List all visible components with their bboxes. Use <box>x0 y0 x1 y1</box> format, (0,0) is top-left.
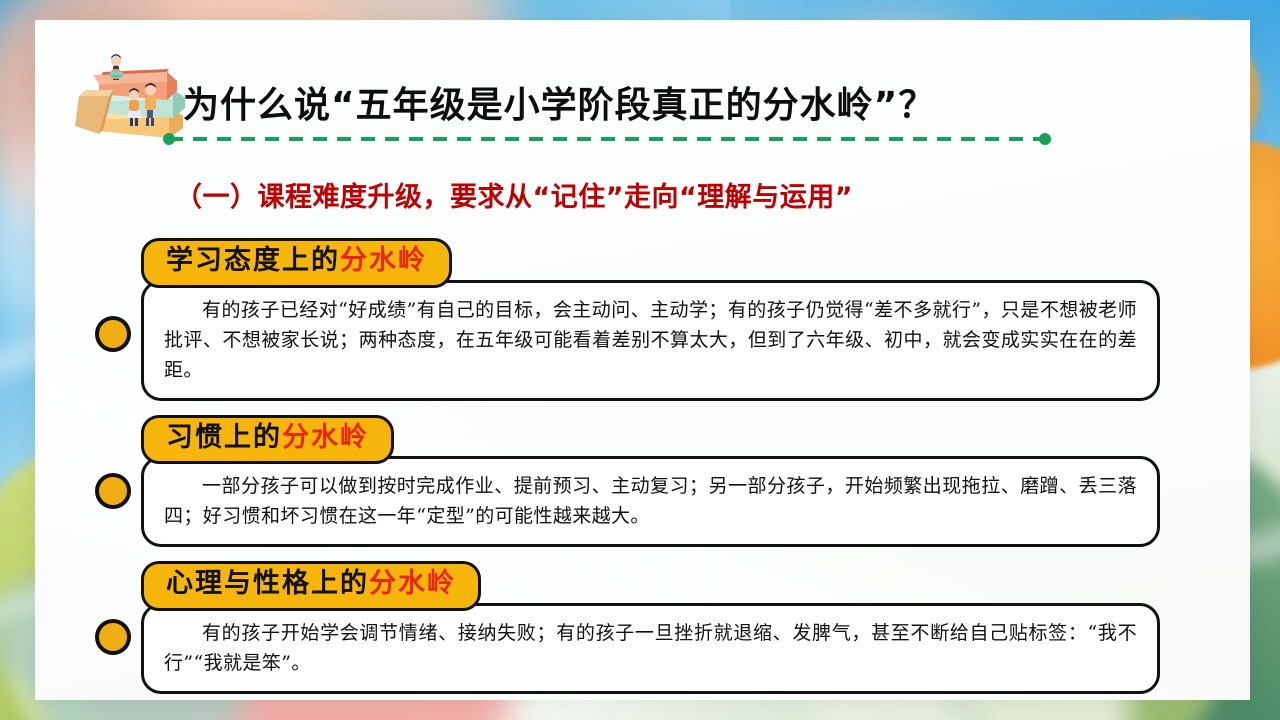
badge-highlight-text: 分水岭 <box>340 245 427 276</box>
block-body-text: 有的孩子已经对“好成绩”有自己的目标，会主动问、主动学；有的孩子仍觉得“差不多就… <box>141 280 1160 401</box>
content-blocks: 学习态度上的分水岭 有的孩子已经对“好成绩”有自己的目标，会主动问、主动学；有的… <box>35 238 1250 708</box>
gold-bullet-icon <box>95 316 131 352</box>
dashed-divider <box>163 133 1051 145</box>
stacked-books-illustration <box>73 44 191 142</box>
divider-dash-line <box>169 137 1045 141</box>
block-badge: 习惯上的分水岭 <box>141 415 394 465</box>
block-body-text: 有的孩子开始学会调节情绪、接纳失败；有的孩子一旦挫折就退缩、发脾气，甚至不断给自… <box>141 603 1160 694</box>
gold-bullet-icon <box>95 619 131 655</box>
slide-canvas: 为什么说“五年级是小学阶段真正的分水岭”？ （一）课程难度升级，要求从“记住”走… <box>0 0 1280 720</box>
badge-prefix-text: 学习态度上的 <box>166 245 340 276</box>
badge-prefix-text: 习惯上的 <box>166 422 282 453</box>
content-block: 学习态度上的分水岭 有的孩子已经对“好成绩”有自己的目标，会主动问、主动学；有的… <box>35 238 1250 401</box>
content-block: 心理与性格上的分水岭 有的孩子开始学会调节情绪、接纳失败；有的孩子一旦挫折就退缩… <box>35 561 1250 694</box>
content-card: 为什么说“五年级是小学阶段真正的分水岭”？ （一）课程难度升级，要求从“记住”走… <box>35 20 1250 700</box>
badge-highlight-text: 分水岭 <box>369 568 456 599</box>
badge-highlight-text: 分水岭 <box>282 422 369 453</box>
divider-dot-right-icon <box>1039 133 1051 145</box>
section-subtitle: （一）课程难度升级，要求从“记住”走向“理解与运用” <box>175 175 853 214</box>
block-badge: 学习态度上的分水岭 <box>141 238 452 288</box>
slide-title: 为什么说“五年级是小学阶段真正的分水岭”？ <box>183 76 935 128</box>
content-block: 习惯上的分水岭 一部分孩子可以做到按时完成作业、提前预习、主动复习；另一部分孩子… <box>35 415 1250 548</box>
block-body-text: 一部分孩子可以做到按时完成作业、提前预习、主动复习；另一部分孩子，开始频繁出现拖… <box>141 456 1160 547</box>
child-reading-figure <box>109 54 124 80</box>
badge-prefix-text: 心理与性格上的 <box>166 568 369 599</box>
block-badge: 心理与性格上的分水岭 <box>141 561 481 611</box>
gold-bullet-icon <box>95 473 131 509</box>
